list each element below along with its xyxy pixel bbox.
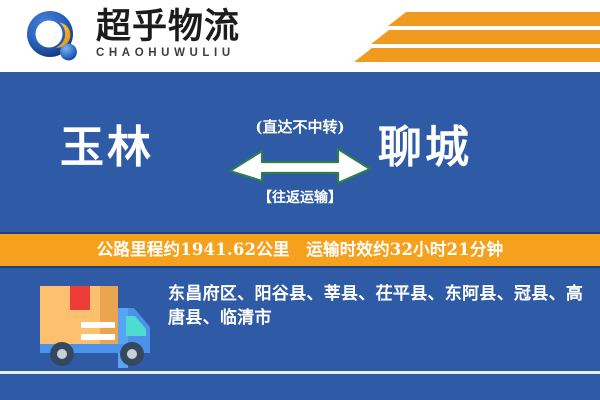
banner-header: 超乎物流 CHAOHUWULIU xyxy=(0,0,600,72)
delivery-truck-icon xyxy=(26,278,166,370)
chaohu-circle-logo-icon xyxy=(26,10,82,66)
orange-speed-stripes-icon xyxy=(336,6,600,68)
double-headed-arrow-icon xyxy=(228,143,372,185)
brand-block: 超乎物流 CHAOHUWULIU xyxy=(96,8,276,66)
distance-duration-text: 公路里程约1941.62公里 运输时效约32小时21分钟 xyxy=(97,240,504,260)
logistics-route-banner: 超乎物流 CHAOHUWULIU 玉林 聊城 (直达不中转) 【往返运输】 公路… xyxy=(0,0,600,400)
route-note-roundtrip: 【往返运输】 xyxy=(0,190,600,207)
brand-name-cn: 超乎物流 xyxy=(96,8,276,46)
bottom-divider xyxy=(0,371,600,374)
distance-duration-bar: 公路里程约1941.62公里 运输时效约32小时21分钟 xyxy=(0,232,600,268)
route-note-direct: (直达不中转) xyxy=(0,118,600,136)
brand-name-en: CHAOHUWULIU xyxy=(96,47,276,60)
coverage-areas-text: 东昌府区、阳谷县、莘县、茌平县、东阿县、冠县、高唐县、临清市 xyxy=(168,282,588,330)
